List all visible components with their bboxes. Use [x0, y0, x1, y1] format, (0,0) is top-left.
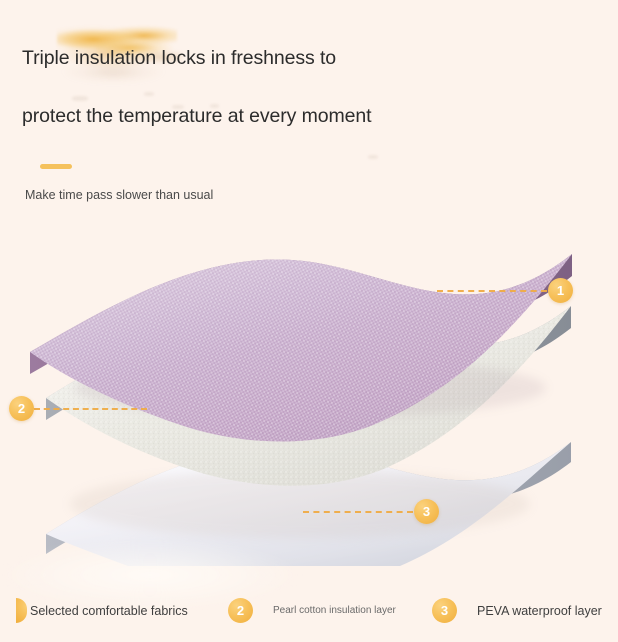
legend-label-2: Pearl cotton insulation layer: [273, 605, 396, 616]
page-title-line-2: protect the temperature at every moment: [22, 105, 371, 128]
product-feature-page: Triple insulation locks in freshness to …: [0, 0, 618, 642]
exploded-layers-illustration: [0, 236, 618, 566]
legend-item-1[interactable]: 1 Selected comfortable fabrics: [16, 598, 188, 623]
leader-line-1: [437, 290, 547, 292]
legend-label-3: PEVA waterproof layer: [477, 604, 602, 618]
legend-badge-2: 2: [228, 598, 253, 623]
legend-badge-1: 1: [16, 598, 27, 623]
layered-material-diagram: [0, 236, 618, 566]
paper-smudge: [368, 155, 378, 159]
diagram-marker-2[interactable]: 2: [9, 396, 34, 421]
legend-section: 1 Selected comfortable fabrics 2 Pearl c…: [0, 592, 618, 638]
paper-smudge: [144, 92, 154, 96]
legend-badge-3: 3: [432, 598, 457, 623]
header-section: Triple insulation locks in freshness to …: [0, 0, 618, 240]
diagram-marker-3[interactable]: 3: [414, 499, 439, 524]
legend-item-3[interactable]: 3 PEVA waterproof layer: [432, 598, 602, 623]
legend-label-1: Selected comfortable fabrics: [30, 604, 188, 618]
paper-smudge: [72, 96, 88, 101]
legend-item-2[interactable]: 2 Pearl cotton insulation layer: [228, 598, 396, 623]
page-subtitle: Make time pass slower than usual: [25, 188, 213, 202]
diagram-marker-1[interactable]: 1: [548, 278, 573, 303]
page-title-line-1: Triple insulation locks in freshness to: [22, 47, 336, 70]
accent-dash-divider: [40, 164, 72, 169]
leader-line-2: [34, 408, 147, 410]
leader-line-3: [303, 511, 413, 513]
